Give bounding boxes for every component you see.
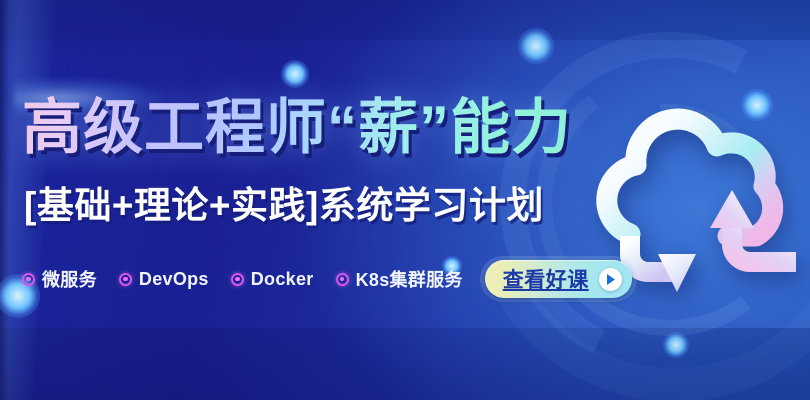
banner-headline: 高级工程师“薪”能力 — [22, 92, 572, 164]
feature-tag-label: DevOps — [139, 269, 209, 290]
target-dot-icon — [231, 273, 244, 286]
view-courses-label: 查看好课 — [503, 264, 589, 294]
banner-subtitle: [基础+理论+实践]系统学习计划 — [24, 182, 544, 230]
feature-tag: Docker — [231, 269, 314, 290]
feature-tag-label: Docker — [251, 269, 314, 290]
target-dot-icon — [336, 273, 349, 286]
view-courses-button[interactable]: 查看好课 — [485, 260, 632, 298]
feature-tag: 微服务 — [22, 266, 97, 292]
feature-tag-row: 微服务DevOpsDockerK8s集群服务 查看好课 — [22, 262, 632, 296]
feature-tag-label: 微服务 — [42, 266, 97, 292]
target-dot-icon — [22, 273, 35, 286]
decorative-glow-dot — [663, 332, 689, 358]
feature-tag: K8s集群服务 — [336, 266, 463, 292]
promo-banner: 高级工程师“薪”能力 高级工程师“薪”能力 [基础+理论+实践]系统学习计划 微… — [0, 0, 810, 400]
banner-content: 高级工程师“薪”能力 高级工程师“薪”能力 [基础+理论+实践]系统学习计划 微… — [0, 0, 640, 400]
target-dot-icon — [119, 273, 132, 286]
feature-tag: DevOps — [119, 269, 209, 290]
feature-tag-label: K8s集群服务 — [356, 266, 463, 292]
chevron-right-icon — [599, 268, 622, 291]
